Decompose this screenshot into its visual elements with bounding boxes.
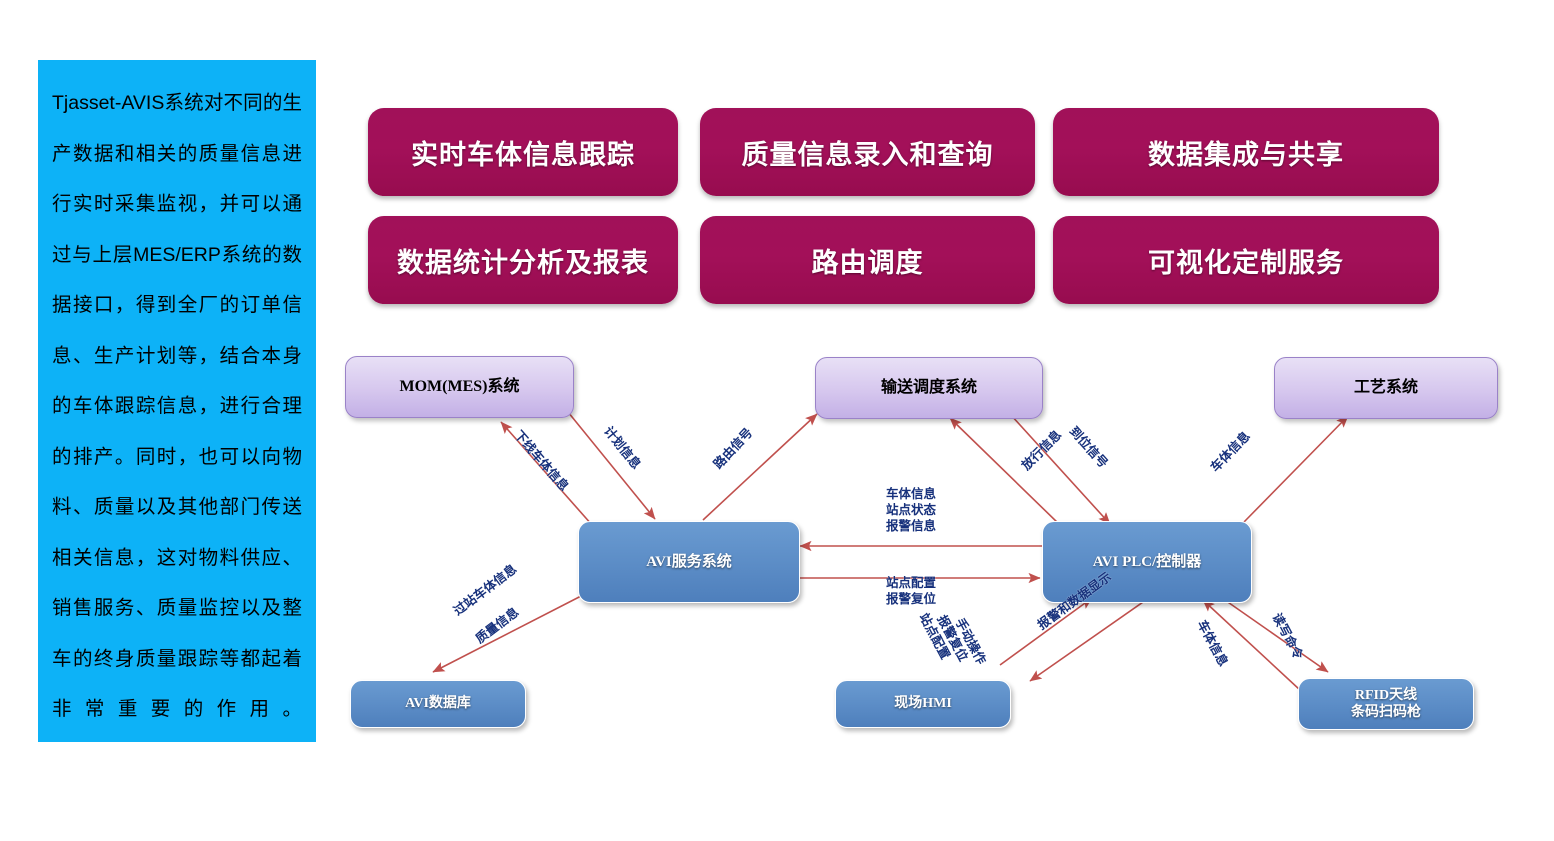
node-avi-plc[interactable]: AVI PLC/控制器 — [1042, 521, 1252, 603]
feature-pill-5[interactable]: 路由调度 — [700, 216, 1035, 304]
feature-pill-4[interactable]: 数据统计分析及报表 — [368, 216, 678, 304]
feature-pill-3[interactable]: 数据集成与共享 — [1053, 108, 1439, 196]
feature-pill-1-label: 实时车体信息跟踪 — [411, 133, 635, 172]
node-avi-database-label: AVI数据库 — [399, 695, 477, 713]
edge-label-arrive-signal: 到位信号 — [1066, 424, 1111, 471]
feature-pill-6[interactable]: 可视化定制服务 — [1053, 216, 1439, 304]
edge-label-offline-body-info: 下线车体信息 — [511, 428, 572, 494]
feature-pill-3-label: 数据集成与共享 — [1148, 133, 1344, 172]
feature-pill-2[interactable]: 质量信息录入和查询 — [700, 108, 1035, 196]
edge-label-center-down-2: 报警复位 — [886, 592, 936, 607]
description-text: Tjasset-AVIS系统对不同的生产数据和相关的质量信息进行实时采集监视，并… — [52, 78, 302, 735]
node-rfid-scanner-label-line2: 条码扫码枪 — [1351, 704, 1421, 722]
feature-pill-2-label: 质量信息录入和查询 — [742, 133, 994, 172]
edge-label-body-info-right: 车体信息 — [1208, 429, 1254, 475]
node-avi-service-label: AVI服务系统 — [640, 553, 738, 572]
node-mom-mes-label: MOM(MES)系统 — [394, 377, 526, 397]
feature-pill-6-label: 可视化定制服务 — [1148, 241, 1344, 280]
feature-pill-1[interactable]: 实时车体信息跟踪 — [368, 108, 678, 196]
node-conveyor-scheduling[interactable]: 输送调度系统 — [815, 357, 1043, 419]
node-conveyor-scheduling-label: 输送调度系统 — [875, 378, 983, 398]
diagram-page: Tjasset-AVIS系统对不同的生产数据和相关的质量信息进行实时采集监视，并… — [0, 0, 1554, 841]
edge-label-quality-info: 质量信息 — [473, 605, 522, 647]
edge-label-plan-info: 计划信息 — [600, 424, 643, 472]
edge-label-center-up-3: 报警信息 — [886, 519, 936, 534]
description-panel: Tjasset-AVIS系统对不同的生产数据和相关的质量信息进行实时采集监视，并… — [38, 60, 316, 742]
node-avi-service[interactable]: AVI服务系统 — [578, 521, 800, 603]
node-process-system[interactable]: 工艺系统 — [1274, 357, 1498, 419]
node-avi-plc-label: AVI PLC/控制器 — [1087, 553, 1208, 572]
edge-label-route-signal: 路由信号 — [711, 425, 756, 472]
feature-pill-4-label: 数据统计分析及报表 — [397, 241, 649, 280]
node-rfid-scanner-label-line1: RFID天线 — [1351, 687, 1421, 705]
node-process-system-label: 工艺系统 — [1348, 378, 1424, 398]
edge-label-center-down-1: 站点配置 — [886, 576, 936, 591]
node-field-hmi-label: 现场HMI — [888, 695, 958, 713]
edge-label-center-up-2: 站点状态 — [886, 503, 936, 518]
edge-label-read-write-command: 读写命令 — [1269, 611, 1306, 662]
edge-label-body-info-bottom: 车体信息 — [1194, 618, 1231, 669]
edge-label-center-up-1: 车体信息 — [886, 487, 936, 502]
node-rfid-scanner[interactable]: RFID天线 条码扫码枪 — [1298, 678, 1474, 730]
node-field-hmi[interactable]: 现场HMI — [835, 680, 1011, 728]
edge-label-release-info: 放行信息 — [1019, 428, 1065, 474]
node-mom-mes[interactable]: MOM(MES)系统 — [345, 356, 574, 418]
feature-pill-5-label: 路由调度 — [812, 241, 924, 280]
node-avi-database[interactable]: AVI数据库 — [350, 680, 526, 728]
